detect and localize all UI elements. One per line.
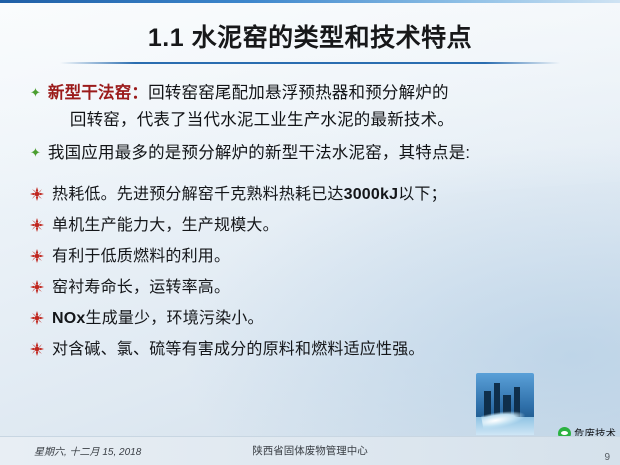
list-item-text: 有利于低质燃料的利用。 xyxy=(52,245,230,269)
slide: 1.1 水泥窑的类型和技术特点 ✦ 新型干法窑：回转窑窑尾配加悬浮预热器和预分解… xyxy=(0,0,620,465)
paragraph-1: ✦ 新型干法窑：回转窑窑尾配加悬浮预热器和预分解炉的 回转窑，代表了当代水泥工业… xyxy=(30,80,598,134)
list-item-text: 热耗低。先进预分解窑千克熟料热耗已达3000kJ以下； xyxy=(52,183,447,207)
star-bullet-icon xyxy=(30,183,46,207)
list-item-text: 窑衬寿命长，运转率高。 xyxy=(52,276,230,300)
diamond-bullet-icon: ✦ xyxy=(30,80,41,106)
bullet-list: 热耗低。先进预分解窑千克熟料热耗已达3000kJ以下； 单机生产能力大，生产规模… xyxy=(30,183,598,362)
paragraph-1-line2: 回转窑，代表了当代水泥工业生产水泥的最新技术。 xyxy=(70,111,454,129)
star-bullet-icon xyxy=(30,276,46,300)
star-bullet-icon xyxy=(30,214,46,238)
list-item: NOx生成量少，环境污染小。 xyxy=(30,307,598,331)
top-accent-line xyxy=(0,0,620,3)
title-underline xyxy=(60,62,560,64)
footer-page-number: 9 xyxy=(604,452,610,463)
list-item-text: 单机生产能力大，生产规模大。 xyxy=(52,214,279,238)
list-item-text: NOx生成量少，环境污染小。 xyxy=(52,307,264,331)
paragraph-1-keyword: 新型干法窑： xyxy=(48,84,148,102)
slide-title: 1.1 水泥窑的类型和技术特点 xyxy=(0,18,620,54)
star-bullet-icon xyxy=(30,338,46,362)
paragraph-2-text: 我国应用最多的是预分解炉的新型干法水泥窑，其特点是: xyxy=(48,140,470,167)
star-bullet-icon xyxy=(30,307,46,331)
list-item: 有利于低质燃料的利用。 xyxy=(30,245,598,269)
star-bullet-icon xyxy=(30,245,46,269)
list-item: 对含碱、氯、硫等有害成分的原料和燃料适应性强。 xyxy=(30,338,598,362)
paragraph-1-text: 新型干法窑：回转窑窑尾配加悬浮预热器和预分解炉的 回转窑，代表了当代水泥工业生产… xyxy=(48,80,454,134)
list-item: 窑衬寿命长，运转率高。 xyxy=(30,276,598,300)
footer-organization: 陕西省固体废物管理中心 xyxy=(0,443,620,458)
list-item: 热耗低。先进预分解窑千克熟料热耗已达3000kJ以下； xyxy=(30,183,598,207)
list-item: 单机生产能力大，生产规模大。 xyxy=(30,214,598,238)
paragraph-2: ✦ 我国应用最多的是预分解炉的新型干法水泥窑，其特点是: xyxy=(30,140,598,167)
slide-body: ✦ 新型干法窑：回转窑窑尾配加悬浮预热器和预分解炉的 回转窑，代表了当代水泥工业… xyxy=(30,80,598,369)
paragraph-1-line1: 回转窑窑尾配加悬浮预热器和预分解炉的 xyxy=(148,84,449,102)
list-item-text: 对含碱、氯、硫等有害成分的原料和燃料适应性强。 xyxy=(52,338,425,362)
diamond-bullet-icon: ✦ xyxy=(30,140,41,166)
